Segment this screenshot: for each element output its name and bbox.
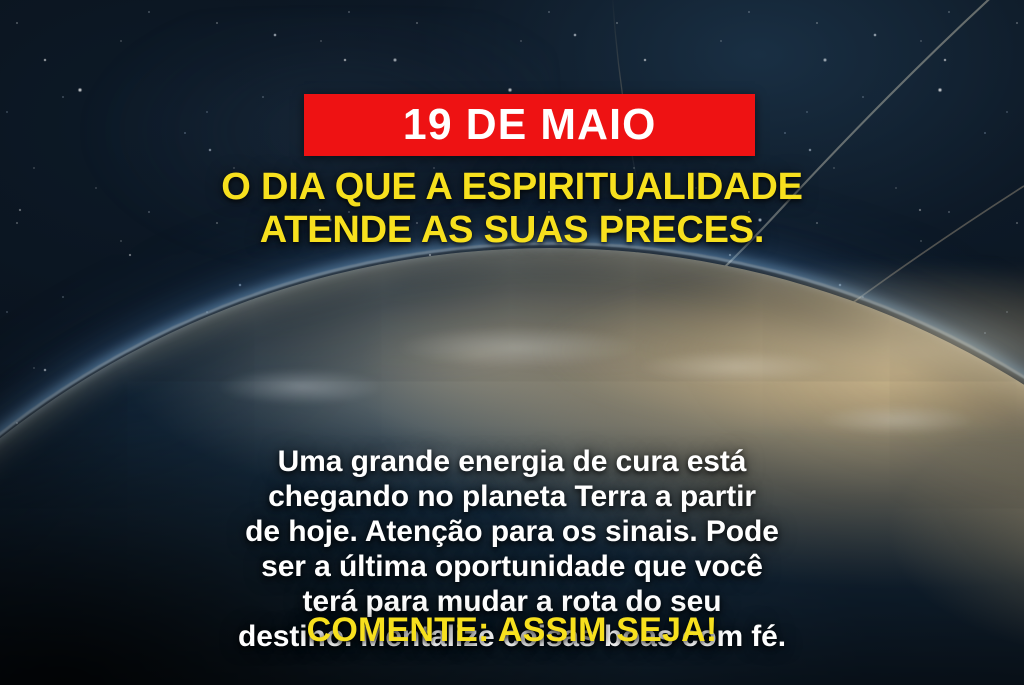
body-line-4: ser a última oportunidade que você [56,549,968,584]
headline: O DIA QUE A ESPIRITUALIDADE ATENDE AS SU… [0,166,1024,251]
date-banner-label: 19 DE MAIO [403,103,657,147]
body-line-2: chegando no planeta Terra a partir [56,479,968,514]
poster-content: 19 DE MAIO O DIA QUE A ESPIRITUALIDADE A… [0,0,1024,685]
headline-line-2: ATENDE AS SUAS PRECES. [46,209,978,252]
body-line-3: de hoje. Atenção para os sinais. Pode [56,514,968,549]
headline-line-1: O DIA QUE A ESPIRITUALIDADE [46,166,978,209]
body-line-1: Uma grande energia de cura está [56,444,968,479]
date-banner: 19 DE MAIO [304,94,755,156]
call-to-action-text: COMENTE: ASSIM SEJA! [0,612,1024,649]
poster-canvas: 19 DE MAIO O DIA QUE A ESPIRITUALIDADE A… [0,0,1024,685]
